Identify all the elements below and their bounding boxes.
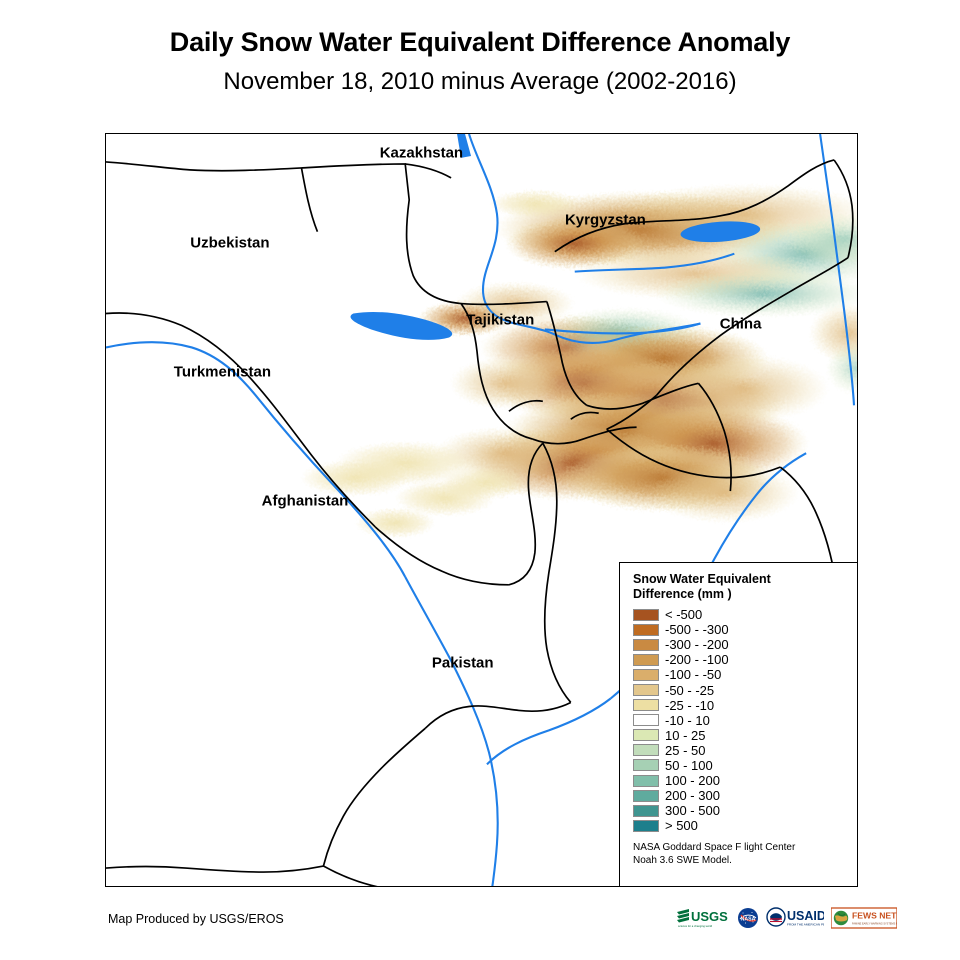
legend-swatch [633,759,659,771]
svg-text:FEWS NET: FEWS NET [852,911,897,921]
legend-swatch [633,654,659,666]
legend-label: < -500 [665,608,702,621]
logo-strip: USGS science for a changing world NASA U… [676,906,897,930]
legend-label: 25 - 50 [665,744,705,757]
lat-tick-30 [105,647,106,649]
legend-title-line1: Snow Water Equivalent [633,572,857,587]
usgs-logo: USGS science for a changing world [676,906,730,930]
page-subtitle: November 18, 2010 minus Average (2002-20… [0,68,960,96]
legend-row: 300 - 500 [633,803,857,818]
usaid-logo: USAID FROM THE AMERICAN PEOPLE [766,906,824,930]
lat-tick-40 [105,279,106,281]
legend-row: 50 - 100 [633,758,857,773]
legend-swatch [633,790,659,802]
svg-text:USGS: USGS [691,909,728,924]
legend-row: -300 - -200 [633,637,857,652]
legend-label: -10 - 10 [665,714,710,727]
legend-label: 200 - 300 [665,789,720,802]
legend-row: -50 - -25 [633,682,857,697]
legend-label: -200 - -100 [665,653,729,666]
legend-credit: NASA Goddard Space F light Center Noah 3… [633,841,857,867]
legend-label: > 500 [665,819,698,832]
legend-row: -200 - -100 [633,652,857,667]
nasa-logo: NASA [737,906,759,930]
legend-swatch [633,729,659,741]
legend-row: -10 - 10 [633,713,857,728]
footer-note: Map Produced by USGS/EROS [108,912,284,926]
legend-title: Snow Water Equivalent Difference (mm ) [633,572,857,602]
lon-tick-65 [294,133,296,134]
legend-row: 100 - 200 [633,773,857,788]
legend-row: 200 - 300 [633,788,857,803]
lon-tick-75 [618,133,620,134]
legend-swatch [633,624,659,636]
legend-swatch [633,744,659,756]
legend-row: 25 - 50 [633,743,857,758]
map-legend: Snow Water Equivalent Difference (mm ) <… [619,562,858,887]
page-title: Daily Snow Water Equivalent Difference A… [0,27,960,58]
legend-row: > 500 [633,818,857,833]
legend-swatch [633,684,659,696]
legend-label: 300 - 500 [665,804,720,817]
legend-swatch [633,699,659,711]
svg-text:science for a changing world: science for a changing world [678,924,713,928]
legend-credit-line2: Noah 3.6 SWE Model. [633,854,857,867]
legend-row: -25 - -10 [633,698,857,713]
legend-row: 10 - 25 [633,728,857,743]
svg-text:USAID: USAID [787,909,824,923]
fewsnet-logo: FEWS NET FAMINE EARLY WARNING SYSTEMS NE… [831,906,897,930]
legend-swatch [633,609,659,621]
svg-text:FROM THE AMERICAN PEOPLE: FROM THE AMERICAN PEOPLE [787,923,824,927]
lon-tick-80 [781,133,783,134]
legend-label: 50 - 100 [665,759,713,772]
legend-swatch [633,775,659,787]
legend-label: -50 - -25 [665,684,714,697]
legend-label: -500 - -300 [665,623,729,636]
legend-label: -300 - -200 [665,638,729,651]
lat-tick-35 [105,463,106,465]
legend-class-list: < -500-500 - -300-300 - -200-200 - -100-… [633,607,857,833]
legend-label: 100 - 200 [665,774,720,787]
legend-swatch [633,820,659,832]
legend-row: -100 - -50 [633,667,857,682]
svg-text:NASA: NASA [741,917,756,923]
legend-label: -25 - -10 [665,699,714,712]
legend-label: -100 - -50 [665,668,721,681]
legend-title-line2: Difference (mm ) [633,587,857,602]
legend-swatch [633,669,659,681]
lon-tick-70 [456,133,458,134]
legend-swatch [633,805,659,817]
legend-label: 10 - 25 [665,729,705,742]
legend-credit-line1: NASA Goddard Space F light Center [633,841,857,854]
lat-tick-25 [105,822,106,824]
legend-swatch [633,639,659,651]
svg-text:FAMINE EARLY WARNING SYSTEMS N: FAMINE EARLY WARNING SYSTEMS NETWORK [852,923,897,926]
legend-swatch [633,714,659,726]
legend-row: -500 - -300 [633,622,857,637]
legend-row: < -500 [633,607,857,622]
